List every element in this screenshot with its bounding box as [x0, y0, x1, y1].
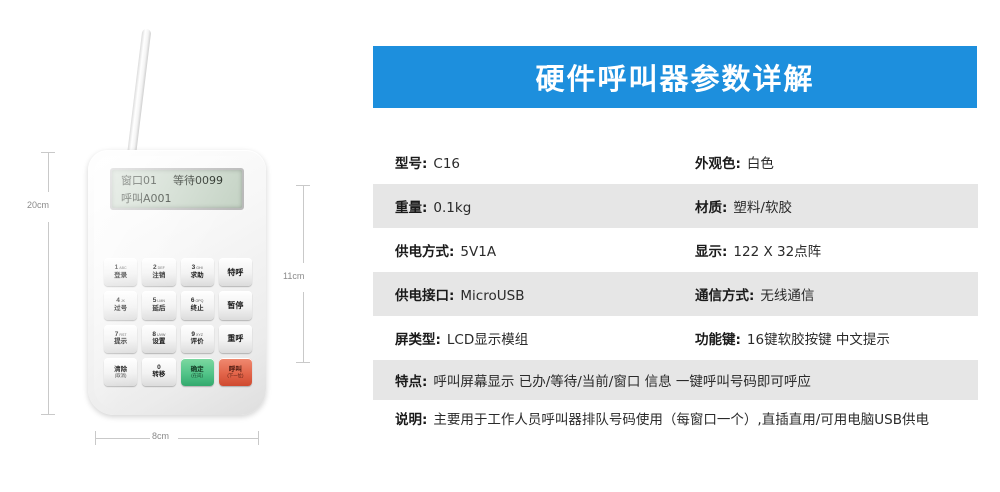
key-6[interactable]: 6OPQ终止 — [181, 291, 214, 319]
key-label: 终止 — [191, 306, 204, 313]
key-letters: RST — [119, 334, 126, 338]
product-photo: 窗口01等待0099 呼叫A001 1ABC登录 2DEF注销 3GHI求助 特… — [0, 0, 350, 492]
antenna — [126, 28, 151, 163]
caller-device-body: 窗口01等待0099 呼叫A001 1ABC登录 2DEF注销 3GHI求助 特… — [88, 150, 266, 415]
key-label: 延后 — [152, 306, 165, 313]
spec-cell-power-supply: 供电方式: 5V1A — [395, 240, 695, 260]
spec-cell-note: 说明: 主要用于工作人员呼叫器排队号码使用（每窗口一个）,直插直用/可用电脑US… — [395, 408, 929, 430]
key-number: 6 — [191, 298, 195, 305]
key-label: 提示 — [114, 339, 127, 346]
spec-cell-features: 特点: 呼叫屏幕显示 已办/等待/当前/窗口 信息 一键呼叫号码即可呼应 — [395, 370, 811, 390]
lcd-screen: 窗口01等待0099 呼叫A001 — [110, 168, 244, 210]
key-number: 2 — [153, 265, 157, 272]
spec-table: 型号: C16 外观色: 白色 重量: 0.1kg 材质: 塑料/软胶 — [373, 140, 978, 456]
spec-label: 材质: — [695, 196, 727, 216]
spec-label: 外观色: — [695, 152, 741, 172]
height-dimension-line-bottom — [48, 222, 49, 414]
key-confirm[interactable]: 确定(在岗) — [181, 358, 214, 386]
table-row: 重量: 0.1kg 材质: 塑料/软胶 — [373, 184, 978, 228]
spec-value: 122 X 32点阵 — [733, 240, 821, 260]
key-special-call[interactable]: 特呼 — [219, 258, 252, 286]
table-row: 型号: C16 外观色: 白色 — [373, 140, 978, 184]
height-dimension-tick-top — [41, 152, 55, 153]
spec-value: C16 — [433, 156, 460, 172]
key-3[interactable]: 3GHI求助 — [181, 258, 214, 286]
key-clear[interactable]: 清除(取消) — [104, 358, 137, 386]
spec-value: LCD显示模组 — [447, 328, 528, 348]
spec-label: 型号: — [395, 152, 427, 172]
depth-dimension-tick-bottom — [296, 362, 310, 363]
lcd-waiting-label: 等待0099 — [173, 174, 223, 187]
key-recall[interactable]: 重呼 — [219, 325, 252, 353]
spec-cell-function-keys: 功能键: 16键软胶按键 中文提示 — [695, 328, 978, 348]
spec-value: 白色 — [747, 152, 774, 172]
key-5[interactable]: 5LMN延后 — [142, 291, 175, 319]
height-dimension-label: 20cm — [27, 200, 49, 210]
key-8[interactable]: 8UVW设置 — [142, 325, 175, 353]
key-label: 暂停 — [227, 302, 243, 310]
table-row-features: 特点: 呼叫屏幕显示 已办/等待/当前/窗口 信息 一键呼叫号码即可呼应 — [373, 360, 978, 400]
width-dimension-label: 8cm — [152, 431, 169, 441]
key-label: 登录 — [114, 273, 127, 280]
spec-label: 功能键: — [695, 328, 741, 348]
key-letters: OPQ — [195, 300, 203, 304]
spec-banner: 硬件呼叫器参数详解 — [373, 46, 977, 108]
table-row: 屏类型: LCD显示模组 功能键: 16键软胶按键 中文提示 — [373, 316, 978, 360]
spec-label: 通信方式: — [695, 284, 754, 304]
spec-label: 说明: — [395, 408, 427, 428]
key-label: 设置 — [152, 339, 165, 346]
key-sublabel: (在岗) — [191, 374, 203, 378]
key-label: 特呼 — [227, 269, 243, 277]
spec-value: 呼叫屏幕显示 已办/等待/当前/窗口 信息 一键呼叫号码即可呼应 — [433, 370, 811, 390]
lcd-line-1: 窗口01等待0099 — [112, 172, 242, 190]
keypad: 1ABC登录 2DEF注销 3GHI求助 特呼 4JK过号 5LMN延后 6OP… — [104, 258, 252, 386]
height-dimension-line-top — [48, 152, 49, 192]
key-letters: XYZ — [196, 334, 203, 338]
spec-cell-material: 材质: 塑料/软胶 — [695, 196, 978, 216]
key-number: 3 — [192, 265, 196, 272]
spec-value: 5V1A — [460, 244, 496, 260]
key-label: 重呼 — [227, 335, 243, 343]
table-row-note: 说明: 主要用于工作人员呼叫器排队号码使用（每窗口一个）,直插直用/可用电脑US… — [373, 400, 978, 456]
key-4[interactable]: 4JK过号 — [104, 291, 137, 319]
product-spec-page: 窗口01等待0099 呼叫A001 1ABC登录 2DEF注销 3GHI求助 特… — [0, 0, 1000, 492]
spec-value: MicroUSB — [460, 288, 524, 304]
key-label: 注销 — [152, 273, 165, 280]
width-dimension-tick-left — [95, 431, 96, 445]
key-number: 5 — [153, 298, 157, 305]
depth-dimension-line-bottom — [303, 292, 304, 362]
width-dimension-tick-right — [258, 431, 259, 445]
spec-cell-screen-type: 屏类型: LCD显示模组 — [395, 328, 695, 348]
page-title: 硬件呼叫器参数详解 — [535, 56, 814, 98]
spec-cell-display: 显示: 122 X 32点阵 — [695, 240, 978, 260]
spec-value: 塑料/软胶 — [733, 196, 792, 216]
height-dimension-tick-bottom — [41, 414, 55, 415]
spec-value: 0.1kg — [433, 200, 471, 216]
key-letters: UVW — [157, 334, 165, 338]
spec-cell-communication: 通信方式: 无线通信 — [695, 284, 978, 304]
spec-cell-power-interface: 供电接口: MicroUSB — [395, 284, 695, 304]
key-letters: ABC — [119, 267, 126, 271]
lcd-window-label: 窗口01 — [121, 174, 157, 187]
spec-panel: 硬件呼叫器参数详解 型号: C16 外观色: 白色 重量: 0.1kg — [355, 0, 1000, 492]
spec-label: 屏类型: — [395, 328, 441, 348]
table-row: 供电方式: 5V1A 显示: 122 X 32点阵 — [373, 228, 978, 272]
key-7[interactable]: 7RST提示 — [104, 325, 137, 353]
key-letters: DEF — [158, 267, 165, 271]
spec-value: 16键软胶按键 中文提示 — [747, 328, 890, 348]
key-sublabel: (下一位) — [227, 374, 243, 378]
key-label: 求助 — [191, 273, 204, 280]
key-number: 4 — [116, 298, 120, 305]
spec-label: 供电方式: — [395, 240, 454, 260]
spec-value: 无线通信 — [760, 284, 814, 304]
width-dimension-line-right — [178, 438, 258, 439]
key-letters: JK — [121, 300, 125, 304]
spec-cell-model: 型号: C16 — [395, 152, 695, 172]
key-0[interactable]: 0转移 — [142, 358, 175, 386]
key-call[interactable]: 呼叫(下一位) — [219, 358, 252, 386]
key-label: 过号 — [114, 306, 127, 313]
depth-dimension-line-top — [303, 185, 304, 263]
spec-label: 供电接口: — [395, 284, 454, 304]
width-dimension-line-left — [95, 438, 150, 439]
spec-cell-weight: 重量: 0.1kg — [395, 196, 695, 216]
depth-dimension-label: 11cm — [283, 271, 304, 281]
key-2[interactable]: 2DEF注销 — [142, 258, 175, 286]
table-row: 供电接口: MicroUSB 通信方式: 无线通信 — [373, 272, 978, 316]
spec-label: 重量: — [395, 196, 427, 216]
key-pause[interactable]: 暂停 — [219, 291, 252, 319]
key-letters: GHI — [196, 267, 202, 271]
key-9[interactable]: 9XYZ评价 — [181, 325, 214, 353]
lcd-line-2: 呼叫A001 — [112, 190, 242, 208]
key-number: 1 — [115, 265, 119, 272]
key-label: 转移 — [152, 372, 165, 379]
spec-label: 显示: — [695, 240, 727, 260]
key-1[interactable]: 1ABC登录 — [104, 258, 137, 286]
key-letters: LMN — [157, 300, 165, 304]
key-label: 评价 — [191, 339, 204, 346]
key-sublabel: (取消) — [115, 374, 127, 378]
depth-dimension-tick-top — [296, 185, 310, 186]
spec-value: 主要用于工作人员呼叫器排队号码使用（每窗口一个）,直插直用/可用电脑USB供电 — [433, 411, 929, 430]
spec-cell-color: 外观色: 白色 — [695, 152, 978, 172]
spec-label: 特点: — [395, 370, 427, 390]
